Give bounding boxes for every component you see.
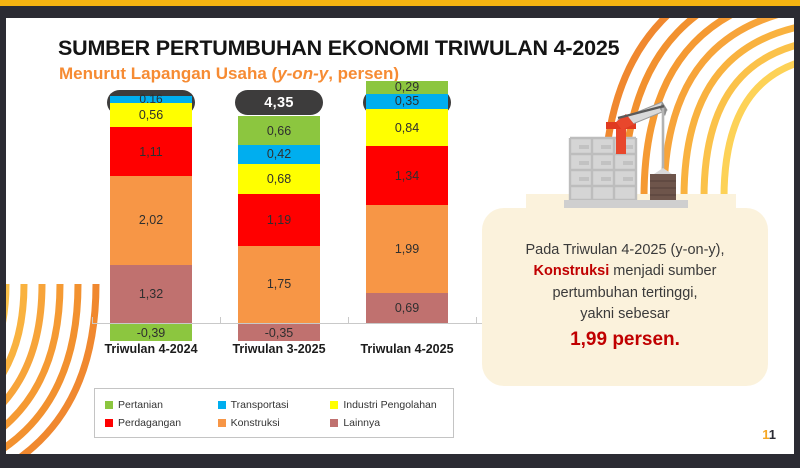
legend-item[interactable]: Transportasi [218,399,331,411]
callout-line1: Pada Triwulan 4-2025 (y-on-y), [525,242,724,258]
stacked-bar-chart: 4,784,355,49 0,160,561,112,021,32-0,390,… [88,90,488,360]
slide-root: SUMBER PERTUMBUHAN EKONOMI TRIWULAN 4-20… [0,0,800,468]
bar-segment[interactable]: 1,34 [366,146,448,205]
bar-segment[interactable]: 1,99 [366,205,448,293]
legend-label: Perdagangan [118,417,181,429]
bar-segment[interactable]: 0,66 [238,116,320,145]
legend-item[interactable]: Lainnya [330,417,443,429]
page-number: 11 [762,427,776,442]
legend-item[interactable]: Konstruksi [218,417,331,429]
legend-label: Konstruksi [231,417,280,429]
bar-segment-negative[interactable]: -0,39 [110,324,192,341]
category-label: Triwulan 4-2024 [91,342,211,356]
axis-tick [476,317,477,323]
axis-tick [348,317,349,323]
bar-segment[interactable]: 0,29 [366,81,448,94]
callout-line2-rest: menjadi sumber [609,263,716,279]
callout-line4: yakni sebesar [580,306,669,322]
legend-swatch [330,419,338,427]
callout-highlight: Konstruksi [534,263,610,279]
axis-tick [92,317,93,323]
callout-line3: pertumbuhan tertinggi, [552,285,697,301]
slide-canvas: SUMBER PERTUMBUHAN EKONOMI TRIWULAN 4-20… [6,18,794,454]
legend-label: Lainnya [343,417,380,429]
bar-segment[interactable]: 0,84 [366,109,448,146]
bar-segment-negative[interactable]: -0,35 [238,324,320,341]
legend-item[interactable]: Perdagangan [105,417,218,429]
bar-column[interactable]: 0,160,561,112,021,32 [110,96,192,323]
bar-segment[interactable]: 1,32 [110,265,192,323]
bar-segment[interactable]: 0,69 [366,293,448,323]
bar-segment[interactable]: 0,42 [238,145,320,163]
subtitle-italic: y-on-y [277,64,328,83]
bar-column[interactable]: 0,660,420,681,191,75 [238,116,320,323]
callout-value: 1,99 persen. [570,329,680,350]
total-badge: 4,35 [235,90,323,115]
legend-label: Industri Pengolahan [343,399,436,411]
construction-crane-illustration [526,76,736,226]
page-title: SUMBER PERTUMBUHAN EKONOMI TRIWULAN 4-20… [58,36,619,61]
bar-segment[interactable]: 1,11 [110,127,192,176]
category-label: Triwulan 3-2025 [219,342,339,356]
building-icon [570,138,636,200]
callout-text: Pada Triwulan 4-2025 (y-on-y), Konstruks… [503,240,746,354]
bar-segment[interactable]: 0,35 [366,94,448,109]
legend-swatch [218,419,226,427]
legend-swatch [218,401,226,409]
bar-segment[interactable]: 0,56 [110,103,192,128]
legend-swatch [105,419,113,427]
page-subtitle: Menurut Lapangan Usaha (y-on-y, persen) [59,64,399,84]
bottom-dark-band [0,454,800,468]
crane-load-icon [650,174,676,200]
bar-column[interactable]: 0,290,350,841,341,990,69 [366,81,448,323]
legend-item[interactable]: Industri Pengolahan [330,399,443,411]
bar-segment[interactable]: 1,19 [238,194,320,246]
subtitle-pre: Menurut Lapangan Usaha ( [59,64,277,83]
axis-tick [220,317,221,323]
bar-segment[interactable]: 0,16 [110,96,192,103]
bar-segment[interactable]: 1,75 [238,246,320,323]
legend-swatch [330,401,338,409]
top-dark-band [0,6,800,18]
bar-segment[interactable]: 2,02 [110,176,192,265]
legend-label: Pertanian [118,399,163,411]
legend-swatch [105,401,113,409]
legend-item[interactable]: Pertanian [105,399,218,411]
legend-label: Transportasi [231,399,289,411]
callout-box: Pada Triwulan 4-2025 (y-on-y), Konstruks… [482,208,768,386]
chart-legend: PertanianTransportasiIndustri Pengolahan… [94,388,454,438]
page-number-value: 1 [769,427,776,442]
bar-segment[interactable]: 0,68 [238,164,320,194]
category-label: Triwulan 4-2025 [347,342,467,356]
